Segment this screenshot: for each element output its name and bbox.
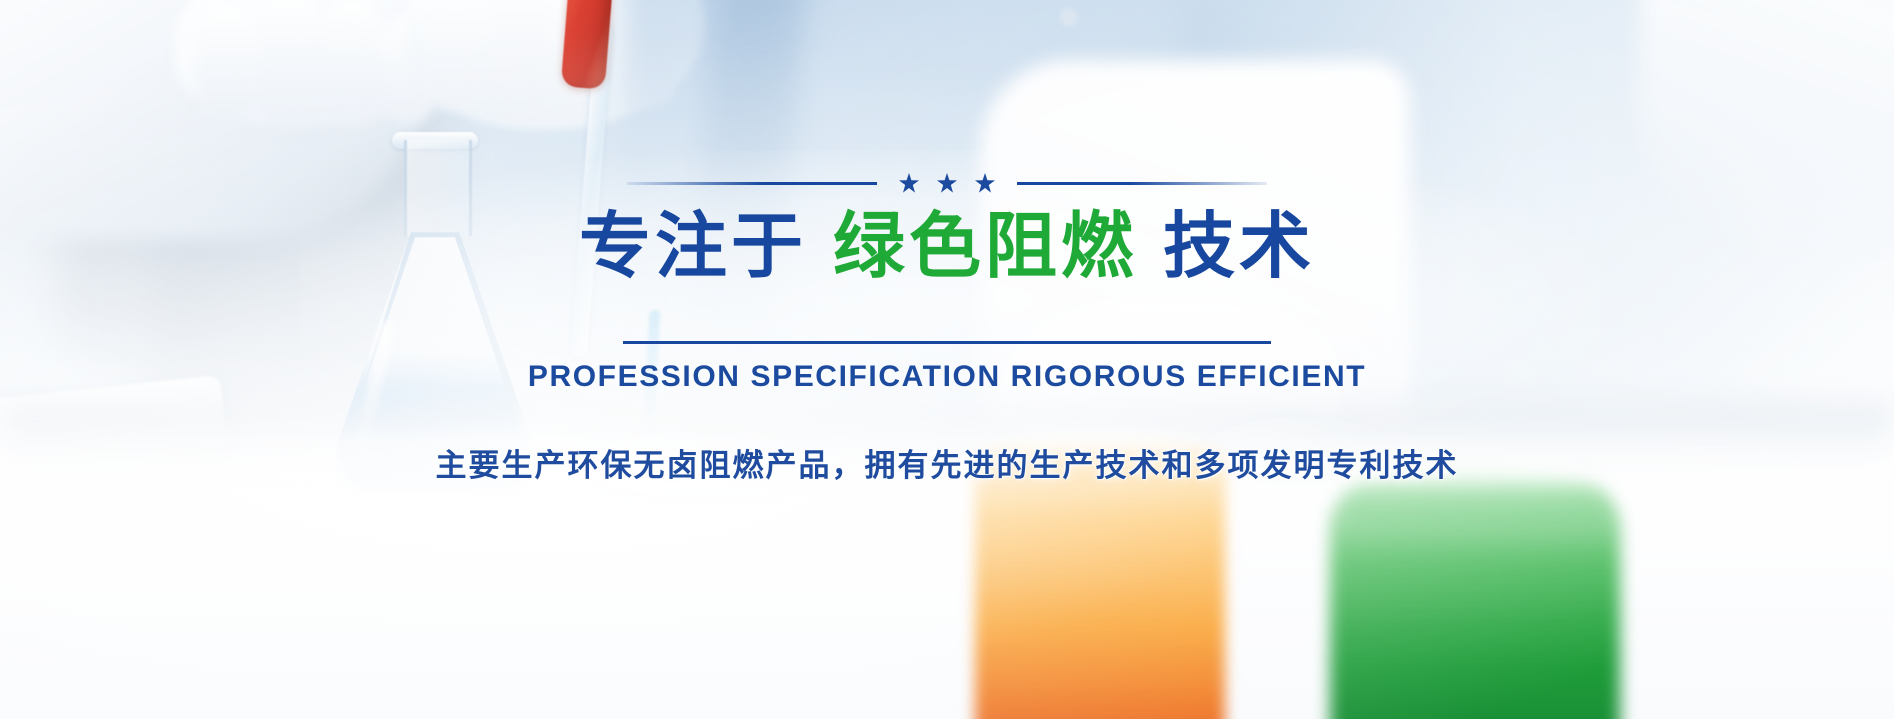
- star-icon: [899, 173, 919, 193]
- divider-line-left: [627, 182, 877, 185]
- star-group: [893, 173, 1001, 193]
- headline-underline: [623, 341, 1271, 344]
- headline: 专注于 绿色阻燃 技术: [579, 210, 1315, 285]
- subtitle-english: PROFESSION SPECIFICATION RIGOROUS EFFICI…: [528, 360, 1366, 394]
- headline-part-2: 绿色阻燃: [833, 210, 1137, 285]
- banner-content: 专注于 绿色阻燃 技术 PROFESSION SPECIFICATION RIG…: [0, 0, 1894, 719]
- headline-part-3: 技术: [1163, 210, 1315, 285]
- tagline-chinese: 主要生产环保无卤阻燃产品，拥有先进的生产技术和多项发明专利技术: [436, 440, 1459, 485]
- star-divider: [627, 170, 1267, 196]
- headline-part-1: 专注于: [579, 210, 807, 285]
- divider-line-right: [1017, 182, 1267, 185]
- star-icon: [937, 173, 957, 193]
- hero-banner: 专注于 绿色阻燃 技术 PROFESSION SPECIFICATION RIG…: [0, 0, 1894, 719]
- star-icon: [975, 173, 995, 193]
